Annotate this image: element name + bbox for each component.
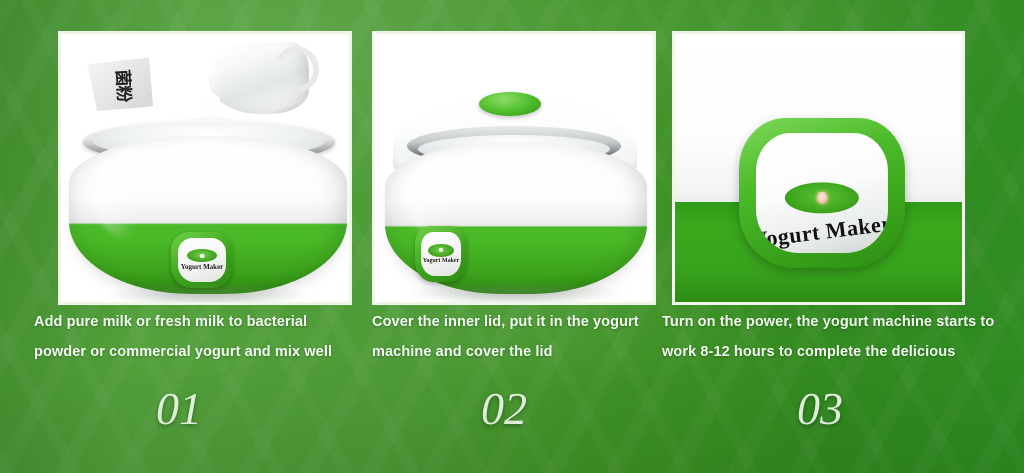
- step-number-3: 03: [797, 386, 843, 432]
- step-caption-3: Turn on the power, the yogurt machine st…: [662, 307, 1002, 367]
- product-photo-2: Yogurt Maker: [375, 34, 653, 302]
- step-caption-1: Add pure milk or fresh milk to bacterial…: [34, 307, 360, 367]
- lid-knob: [479, 92, 541, 116]
- starter-powder-packet: 菌粉: [87, 54, 156, 115]
- brand-label-1: Yogurt Maker: [181, 264, 224, 271]
- product-photo-1: 菌粉 Yogurt Maker: [61, 34, 349, 302]
- brand-label-2: Yogurt Maker: [423, 258, 460, 264]
- step-caption-2: Cover the inner lid, put it in the yogur…: [372, 307, 658, 367]
- body-highlight-1: [94, 149, 166, 241]
- control-plate-3: Yogurt Maker: [756, 133, 889, 253]
- control-badge-2: Yogurt Maker: [415, 226, 467, 282]
- packet-label: 菌粉: [113, 69, 132, 102]
- control-badge-1: Yogurt Maker: [171, 232, 233, 288]
- product-shadow-2: [399, 282, 629, 302]
- product-shadow-1: [101, 284, 315, 302]
- indicator-lamp-3: [785, 182, 859, 213]
- infographic-stage: 菌粉 Yogurt Maker: [0, 0, 1024, 473]
- indicator-lamp-2: [428, 244, 453, 257]
- step-image-panel-1: 菌粉 Yogurt Maker: [58, 31, 352, 305]
- step-number-2: 02: [481, 386, 527, 432]
- step-number-1: 01: [156, 386, 202, 432]
- brand-label-3: Yogurt Maker: [756, 210, 889, 253]
- indicator-lamp-1: [187, 249, 217, 262]
- step-image-panel-3: Yogurt Maker: [672, 31, 965, 305]
- control-badge-3: Yogurt Maker: [739, 118, 905, 268]
- step-image-panel-2: Yogurt Maker: [372, 31, 656, 305]
- product-photo-3: Yogurt Maker: [675, 34, 962, 302]
